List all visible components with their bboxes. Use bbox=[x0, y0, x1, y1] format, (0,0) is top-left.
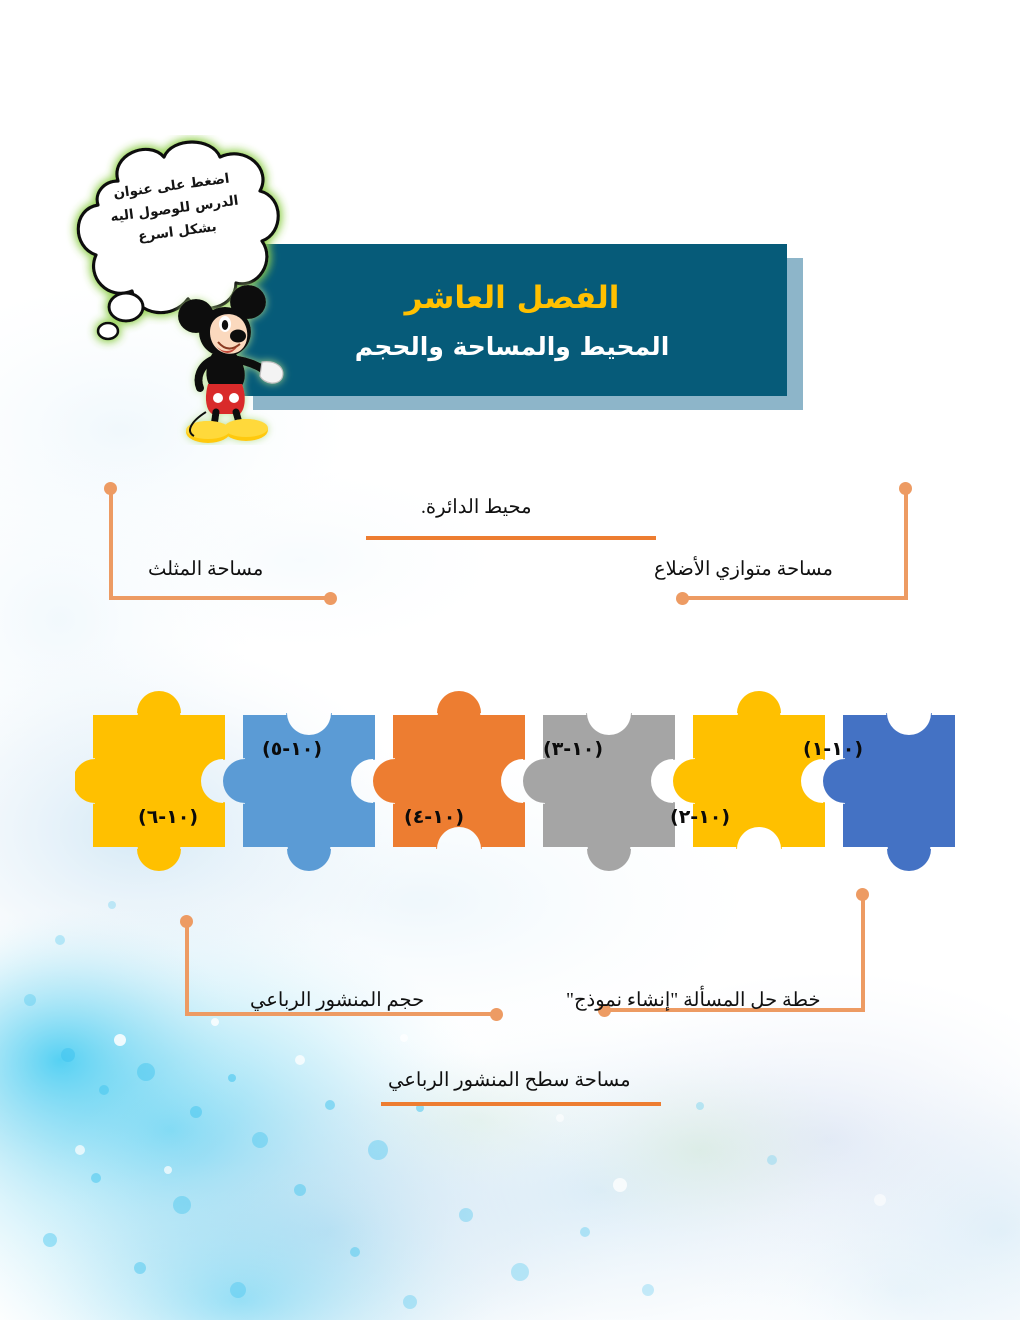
bracket-parallelogram-area bbox=[676, 482, 916, 604]
puzzle-label-10-5[interactable]: (١٠-٥) bbox=[262, 738, 322, 760]
puzzle-piece-10-3[interactable] bbox=[523, 713, 675, 871]
puzzle-label-10-3[interactable]: (١٠-٣) bbox=[543, 738, 603, 760]
puzzle-label-10-6[interactable]: (١٠-٦) bbox=[138, 806, 198, 828]
mickey-mouse-icon bbox=[170, 280, 300, 445]
puzzle-piece-10-6[interactable] bbox=[75, 691, 225, 871]
chapter-banner[interactable]: الفصل العاشر المحيط والمساحة والحجم bbox=[237, 244, 787, 396]
label-rect-prism-volume[interactable]: حجم المنشور الرباعي bbox=[250, 988, 424, 1012]
puzzle-piece-10-1[interactable] bbox=[823, 713, 955, 871]
bracket-triangle-area bbox=[100, 482, 340, 604]
underline-rect-prism-surface bbox=[381, 1102, 661, 1106]
label-parallelogram-area[interactable]: مساحة متوازي الأضلاع bbox=[654, 557, 833, 581]
puzzle-lesson-row bbox=[75, 645, 955, 910]
label-triangle-area[interactable]: مساحة المثلث bbox=[148, 557, 263, 581]
puzzle-label-10-1[interactable]: (١٠-١) bbox=[803, 738, 863, 760]
puzzle-label-10-4[interactable]: (١٠-٤) bbox=[404, 806, 464, 828]
chapter-subtitle: المحيط والمساحة والحجم bbox=[355, 332, 670, 361]
puzzle-label-10-2[interactable]: (١٠-٢) bbox=[670, 806, 730, 828]
label-circle-circumference[interactable]: محيط الدائرة. bbox=[421, 495, 532, 519]
puzzle-piece-10-5[interactable] bbox=[223, 713, 375, 871]
label-rect-prism-surface[interactable]: مساحة سطح المنشور الرباعي bbox=[388, 1068, 631, 1092]
underline-circle-circumference bbox=[366, 536, 656, 540]
chapter-title: الفصل العاشر bbox=[405, 280, 620, 316]
label-make-a-model-plan[interactable]: خطة حل المسألة "إنشاء نموذج" bbox=[566, 988, 821, 1012]
